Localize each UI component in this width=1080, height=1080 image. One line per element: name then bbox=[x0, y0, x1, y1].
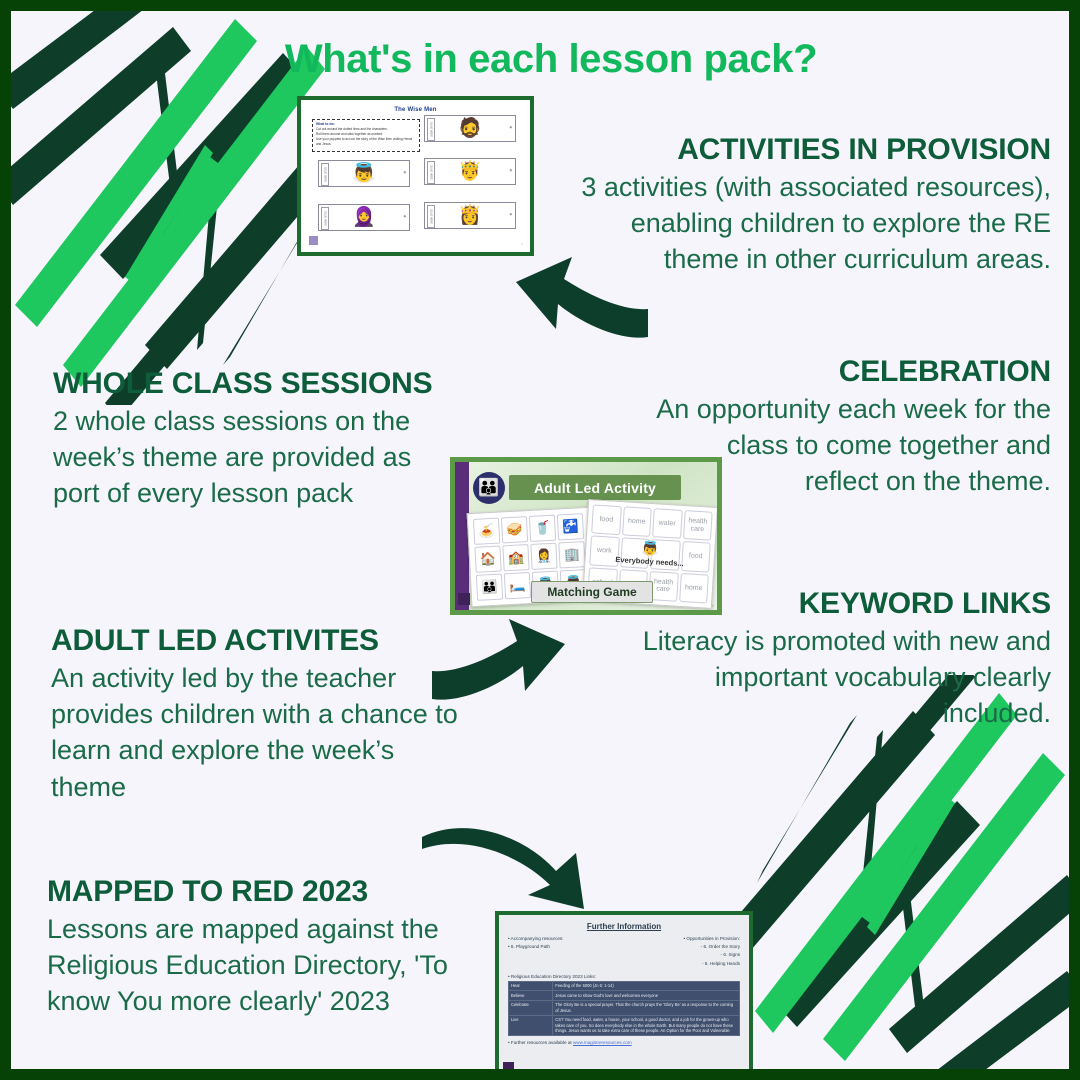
word-card: home bbox=[679, 573, 709, 604]
page-title: What's in each lesson pack? bbox=[11, 37, 1080, 82]
picture-card: 🥤 bbox=[529, 515, 556, 542]
puppet-strip: GLUE HERE 👼 ⁕ bbox=[318, 160, 410, 187]
further-information-body: Further Information • Accompanying resou… bbox=[502, 918, 746, 1076]
puppet-figure-icon: 👼 bbox=[352, 164, 376, 183]
children-dancing-icon: 👪 bbox=[473, 472, 505, 504]
heading-adult-led-activities: ADULT LED ACTIVITES bbox=[51, 624, 461, 658]
list-item: • Opportunities in Provision: bbox=[683, 936, 740, 942]
body-activities-in-provision: 3 activities (with associated resources)… bbox=[581, 169, 1051, 278]
table-cell-key: Believe bbox=[509, 991, 553, 1001]
table-row: Live CST You need food, water, a house, … bbox=[509, 1015, 740, 1036]
fold-mark-icon: ⁕ bbox=[403, 214, 407, 220]
glue-tab: GLUE HERE bbox=[427, 161, 435, 184]
slide-thumbnail-further-information[interactable]: Further Information • Accompanying resou… bbox=[495, 911, 753, 1080]
instruction-line: Use your puppets to act out the story of… bbox=[316, 137, 416, 147]
fold-mark-icon: ⁕ bbox=[403, 170, 407, 176]
body-whole-class-sessions: 2 whole class sessions on the week’s the… bbox=[53, 403, 453, 512]
word-card: home bbox=[622, 506, 652, 537]
table-row: Celebrate The Glory Be is a special pray… bbox=[509, 1000, 740, 1015]
slide-thumbnail-wise-men[interactable]: The Wise Men What to do: Cut out around … bbox=[297, 96, 534, 256]
red-links-label: • Religious Education Directory 2023 Lin… bbox=[508, 974, 740, 979]
heading-mapped-to-red-2023: MAPPED TO RED 2023 bbox=[47, 875, 497, 909]
fold-mark-icon: ⁕ bbox=[509, 125, 513, 131]
word-card-center-label: 👼 Everybody needs... bbox=[608, 538, 691, 569]
section-activities-in-provision: ACTIVITIES IN PROVISION 3 activities (wi… bbox=[581, 133, 1051, 278]
picture-card: 🏠 bbox=[474, 546, 501, 573]
fold-mark-icon: ⁕ bbox=[509, 212, 513, 218]
picture-card: 👪 bbox=[476, 573, 503, 600]
puppet-figure-icon: 🤴 bbox=[458, 162, 482, 181]
heading-activities-in-provision: ACTIVITIES IN PROVISION bbox=[581, 133, 1051, 167]
body-adult-led-activities: An activity led by the teacher provides … bbox=[51, 660, 461, 806]
further-information-columns: • Accompanying resources: • 6. Playgroun… bbox=[508, 936, 740, 969]
further-resources-link[interactable]: www.magistreresources.com bbox=[573, 1040, 632, 1045]
puppet-strip: GLUE HERE 👸 ⁕ bbox=[424, 202, 516, 229]
publisher-logo bbox=[309, 236, 318, 245]
instructions-heading: What to do: bbox=[316, 122, 416, 126]
list-item: - 6. Order the Story bbox=[683, 944, 740, 950]
body-mapped-to-red-2023: Lessons are mapped against the Religious… bbox=[47, 911, 497, 1020]
picture-card: 🛏️ bbox=[504, 572, 531, 599]
body-keyword-links: Literacy is promoted with new and import… bbox=[601, 623, 1051, 732]
table-cell-value: Jesus came to show God's love and welcom… bbox=[553, 991, 740, 1001]
list-item: • 6. Playground Path bbox=[508, 944, 564, 950]
table-cell-key: Live bbox=[509, 1015, 553, 1036]
list-item: - 6. Helping Hands bbox=[683, 961, 740, 967]
worksheet-title: The Wise Men bbox=[304, 107, 527, 113]
puppet-strip: GLUE HERE 🤴 ⁕ bbox=[424, 158, 516, 185]
further-resources-footer: • Further resources available at www.mag… bbox=[508, 1040, 740, 1045]
section-adult-led-activities: ADULT LED ACTIVITES An activity led by t… bbox=[51, 624, 461, 805]
glue-tab: GLUE HERE bbox=[427, 118, 435, 141]
accompanying-resources-list: • Accompanying resources: • 6. Playgroun… bbox=[508, 936, 564, 969]
heading-celebration: CELEBRATION bbox=[651, 355, 1051, 389]
table-cell-key: Celebrate bbox=[509, 1000, 553, 1015]
table-row: Hear Feeding of the 5000 (Jn 6: 1-14) bbox=[509, 981, 740, 991]
puppet-figure-icon: 🧔 bbox=[458, 119, 482, 138]
picture-card: 🏢 bbox=[558, 541, 585, 568]
list-item: - 6. Signs bbox=[683, 952, 740, 958]
word-card: health care bbox=[682, 510, 712, 541]
worksheet-credit: © bbox=[521, 243, 523, 246]
puppet-strip: GLUE HERE 🧕 ⁕ bbox=[318, 204, 410, 231]
word-card: water bbox=[652, 508, 682, 539]
glue-tab: GLUE HERE bbox=[321, 163, 329, 186]
red-links-table: Hear Feeding of the 5000 (Jn 6: 1-14) Be… bbox=[508, 981, 740, 1037]
further-information-title: Further Information bbox=[508, 922, 740, 931]
picture-card: 🥪 bbox=[501, 516, 528, 543]
slide-credit: © bbox=[742, 1072, 744, 1076]
section-whole-class-sessions: WHOLE CLASS SESSIONS 2 whole class sessi… bbox=[53, 367, 453, 512]
picture-card: 👩‍⚕️ bbox=[530, 543, 557, 570]
publisher-logo bbox=[503, 1062, 514, 1073]
table-cell-key: Hear bbox=[509, 981, 553, 991]
opportunities-in-provision-list: • Opportunities in Provision: - 6. Order… bbox=[683, 936, 740, 969]
slide-credit: © bbox=[712, 604, 714, 608]
section-mapped-to-red-2023: MAPPED TO RED 2023 Lessons are mapped ag… bbox=[47, 875, 497, 1020]
picture-card: 🍝 bbox=[473, 518, 500, 545]
slide-thumbnail-adult-led-activity[interactable]: 👪 Adult Led Activity 🍝 🥪 🥤 🚰 🏠 🏫 👩‍⚕️ 🏢 … bbox=[450, 457, 722, 615]
table-cell-value: Feeding of the 5000 (Jn 6: 1-14) bbox=[553, 981, 740, 991]
worksheet-instructions: What to do: Cut out around the dotted li… bbox=[312, 119, 420, 152]
worksheet-sheet: The Wise Men What to do: Cut out around … bbox=[304, 103, 527, 249]
slide-footer-matching-game: Matching Game bbox=[531, 581, 653, 603]
word-card: food bbox=[591, 504, 621, 535]
glue-tab: GLUE HERE bbox=[427, 205, 435, 228]
fold-mark-icon: ⁕ bbox=[509, 168, 513, 174]
publisher-logo bbox=[458, 593, 470, 605]
puppet-figure-icon: 🧕 bbox=[352, 208, 376, 227]
picture-card: 🏫 bbox=[502, 544, 529, 571]
glue-tab: GLUE HERE bbox=[321, 207, 329, 230]
poster-canvas: What's in each lesson pack? The Wise Men… bbox=[0, 0, 1080, 1080]
slide-header-adult-led-activity: Adult Led Activity bbox=[509, 475, 681, 500]
picture-card: 🚰 bbox=[557, 513, 584, 540]
list-item: • Accompanying resources: bbox=[508, 936, 564, 942]
table-row: Believe Jesus came to show God's love an… bbox=[509, 991, 740, 1001]
puppet-strip: GLUE HERE 🧔 ⁕ bbox=[424, 115, 516, 142]
table-cell-value: CST You need food, water, a house, your … bbox=[553, 1015, 740, 1036]
heading-whole-class-sessions: WHOLE CLASS SESSIONS bbox=[53, 367, 453, 401]
puppet-figure-icon: 👸 bbox=[458, 206, 482, 225]
table-cell-value: The Glory Be is a special prayer. That t… bbox=[553, 1000, 740, 1015]
